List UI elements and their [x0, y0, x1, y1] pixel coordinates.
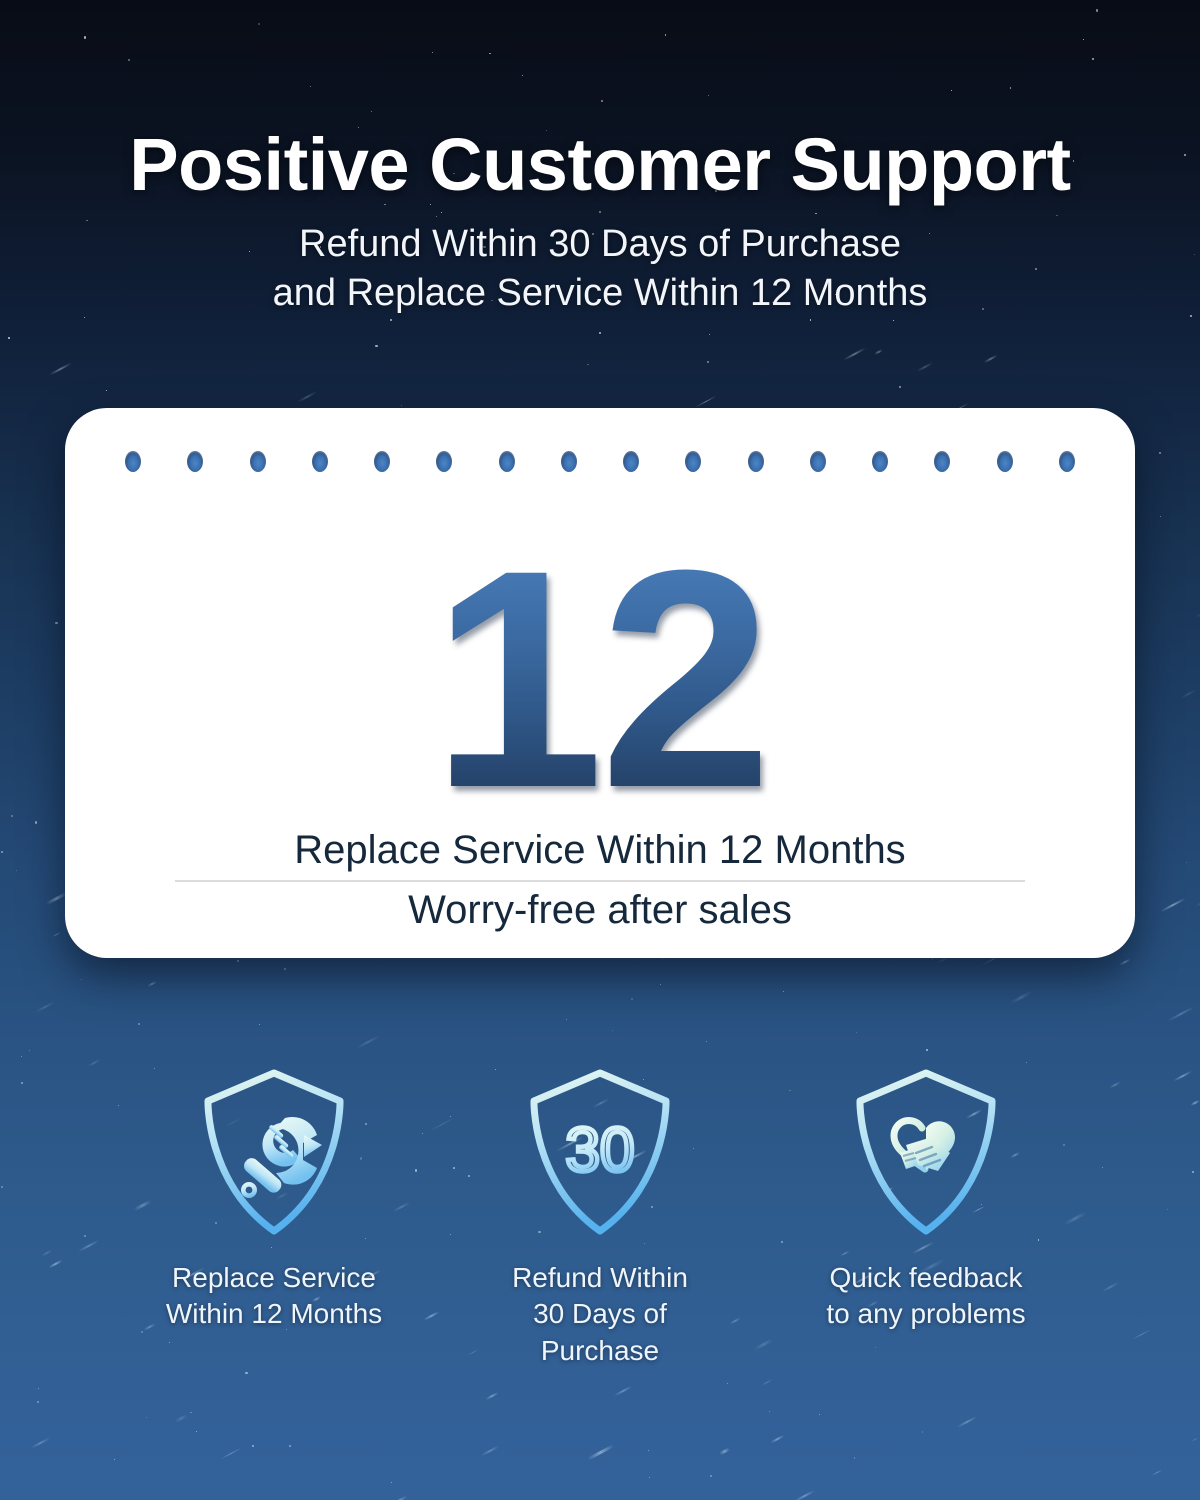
star-speck [114, 1459, 115, 1460]
sparkle-streak [480, 1446, 498, 1457]
sparkle-streak [770, 1435, 785, 1444]
subtitle-line-2: and Replace Service Within 12 Months [0, 269, 1200, 318]
sparkle-streak [762, 1379, 773, 1385]
star-speck [11, 815, 13, 817]
feature-label: Replace Service Within 12 Months [166, 1260, 382, 1333]
sparkle-streak [49, 362, 72, 376]
star-speck [81, 979, 82, 980]
star-speck [190, 1412, 192, 1414]
star-speck [35, 821, 37, 823]
star-speck [21, 1056, 22, 1057]
star-speck [289, 1445, 291, 1447]
promo-poster: Positive Customer Support Refund Within … [0, 0, 1200, 1500]
star-speck [284, 968, 286, 970]
feature-replace-service: Replace Service Within 12 Months [161, 1065, 387, 1369]
star-speck [1026, 1062, 1028, 1064]
sparkle-streak [1010, 990, 1032, 1003]
sparkle-streak [984, 355, 998, 363]
sparkle-streak [719, 1448, 730, 1455]
star-speck [1159, 452, 1161, 454]
card-caption: Replace Service Within 12 Months [65, 828, 1135, 873]
star-speck [710, 1475, 712, 1477]
star-speck [245, 1372, 247, 1374]
punch-hole [125, 451, 141, 472]
punch-hole [997, 451, 1013, 472]
star-speck [29, 1050, 30, 1051]
star-speck [16, 870, 17, 871]
sparkle-streak [485, 1392, 498, 1400]
sparkle-streak [587, 1444, 614, 1460]
star-speck [727, 1383, 728, 1384]
warranty-card: 12 Replace Service Within 12 Months Worr… [65, 408, 1135, 958]
star-speck [401, 405, 402, 406]
shield-badge-number: 30 [566, 1116, 635, 1185]
star-speck [391, 1482, 392, 1483]
star-speck [196, 1431, 197, 1432]
punch-hole [623, 451, 639, 472]
shield-30-days-icon: 30 [520, 1065, 680, 1240]
star-speck [38, 1388, 39, 1389]
star-speck [252, 1445, 255, 1448]
star-speck [259, 1024, 260, 1025]
feature-quick-feedback: Quick feedback to any problems [813, 1065, 1039, 1369]
sparkle-streak [389, 1495, 408, 1500]
star-speck [612, 1030, 613, 1031]
star-speck [587, 364, 588, 365]
sparkle-streak [1151, 1469, 1162, 1476]
star-speck [55, 622, 57, 624]
star-speck [237, 960, 239, 962]
star-speck [769, 1411, 770, 1412]
star-speck [899, 386, 901, 388]
star-speck [707, 361, 709, 363]
star-speck [375, 345, 377, 347]
page-title: Positive Customer Support [0, 126, 1200, 204]
sparkle-streak [147, 981, 157, 987]
sparkle-streak [916, 362, 933, 373]
star-speck [566, 1019, 567, 1020]
punch-hole [561, 451, 577, 472]
sparkle-streak [31, 1437, 50, 1449]
punch-hole [1059, 451, 1075, 472]
sparkle-streak [1160, 897, 1186, 912]
star-speck [660, 984, 661, 985]
sparkle-streak [695, 396, 717, 409]
star-speck [146, 1417, 147, 1418]
card-divider [175, 880, 1025, 882]
sparkle-streak [794, 1490, 815, 1500]
subtitle-line-1: Refund Within 30 Days of Purchase [0, 220, 1200, 269]
feature-label: Refund Within 30 Days of Purchase [487, 1260, 713, 1369]
star-speck [706, 1041, 707, 1042]
header: Positive Customer Support Refund Within … [0, 0, 1200, 318]
star-speck [783, 991, 784, 992]
star-speck [819, 1414, 820, 1415]
star-speck [106, 390, 107, 391]
star-speck [893, 320, 894, 321]
star-speck [1, 851, 3, 853]
punch-hole [312, 451, 328, 472]
star-speck [856, 1032, 857, 1033]
punch-hole-row [125, 450, 1075, 472]
punch-hole [374, 451, 390, 472]
punch-hole [685, 451, 701, 472]
header-subtitle: Refund Within 30 Days of Purchase and Re… [0, 220, 1200, 317]
feature-list: Replace Service Within 12 Months [0, 1065, 1200, 1369]
star-speck [854, 1457, 856, 1459]
star-speck [922, 1431, 924, 1433]
sparkle-streak [1181, 689, 1197, 698]
punch-hole [499, 451, 515, 472]
star-speck [599, 332, 600, 333]
star-speck [8, 337, 10, 339]
star-speck [1186, 862, 1187, 863]
feature-refund-30-days: 30 Refund Within 30 Days of Purchase [487, 1065, 713, 1369]
sparkle-streak [1192, 1437, 1200, 1442]
sparkle-streak [35, 1001, 55, 1013]
sparkle-streak [1195, 604, 1200, 618]
punch-hole [187, 451, 203, 472]
star-speck [1160, 516, 1161, 517]
star-speck [926, 1049, 928, 1051]
sparkle-streak [174, 1414, 187, 1423]
sparkle-streak [957, 1416, 977, 1428]
star-speck [648, 1450, 649, 1451]
star-speck [37, 1401, 39, 1403]
sparkle-streak [356, 1035, 380, 1049]
shield-wrench-icon [194, 1065, 354, 1240]
star-speck [810, 319, 811, 320]
star-speck [631, 998, 633, 1000]
punch-hole [934, 451, 950, 472]
sparkle-streak [1167, 1006, 1194, 1022]
feature-label: Quick feedback to any problems [826, 1260, 1025, 1333]
star-speck [649, 1477, 650, 1478]
sparkle-streak [297, 391, 317, 403]
punch-hole [436, 451, 452, 472]
star-speck [138, 1023, 140, 1025]
warranty-months-number: 12 [65, 524, 1135, 834]
punch-hole [250, 451, 266, 472]
sparkle-streak [1120, 958, 1132, 966]
sparkle-streak [614, 1385, 633, 1396]
punch-hole [748, 451, 764, 472]
sparkle-streak [220, 1447, 242, 1460]
sparkle-streak [1195, 894, 1200, 907]
sparkle-streak [874, 349, 883, 355]
shield-handshake-heart-icon [846, 1065, 1006, 1240]
punch-hole [872, 451, 888, 472]
sparkle-streak [53, 931, 62, 937]
star-speck [709, 334, 710, 335]
punch-hole [810, 451, 826, 472]
card-subcaption: Worry-free after sales [65, 888, 1135, 933]
star-speck [390, 319, 392, 321]
sparkle-streak [843, 347, 866, 361]
